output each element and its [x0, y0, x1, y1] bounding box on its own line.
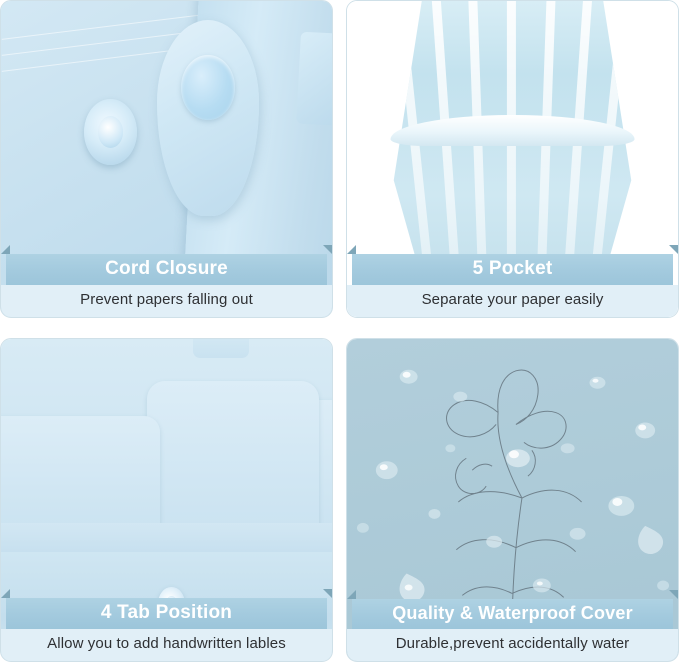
feature-subtitle: Separate your paper easily — [355, 291, 670, 308]
ribbon-fold-right-icon — [323, 245, 332, 254]
snap-button-icon — [84, 99, 137, 165]
subtitle-strip: Durable,prevent accidentally water — [347, 629, 678, 661]
feature-card-five-pocket: 5 Pocket Separate your paper easily — [346, 0, 679, 318]
feature-grid: Cord Closure Prevent papers falling out — [0, 0, 679, 662]
caption-block: Quality & Waterproof Cover Durable,preve… — [347, 599, 678, 661]
feature-subtitle: Prevent papers falling out — [9, 291, 324, 308]
ribbon-fold-left-icon — [1, 589, 10, 598]
feature-subtitle: Durable,prevent accidentally water — [355, 635, 670, 652]
file-tab-shape — [1, 416, 160, 525]
caption-block: 4 Tab Position Allow you to add handwrit… — [1, 598, 332, 661]
feature-title: 4 Tab Position — [6, 602, 327, 624]
feature-title: 5 Pocket — [352, 258, 673, 280]
feature-title: Quality & Waterproof Cover — [352, 603, 673, 624]
title-ribbon: Cord Closure — [6, 254, 327, 285]
subtitle-strip: Prevent papers falling out — [1, 285, 332, 317]
feature-title: Cord Closure — [6, 258, 327, 280]
ribbon-fold-right-icon — [669, 245, 678, 254]
feature-card-cord-closure: Cord Closure Prevent papers falling out — [0, 0, 333, 318]
feature-card-four-tab-position: 4 Tab Position Allow you to add handwrit… — [0, 338, 333, 662]
feature-card-waterproof-cover: Quality & Waterproof Cover Durable,preve… — [346, 338, 679, 662]
ribbon-fold-left-icon — [347, 590, 356, 599]
closure-tongue-shape — [193, 339, 249, 358]
subtitle-strip: Separate your paper easily — [347, 285, 678, 317]
ribbon-fold-left-icon — [1, 245, 10, 254]
ribbon-fold-right-icon — [323, 589, 332, 598]
feature-subtitle: Allow you to add handwritten lables — [9, 635, 324, 652]
title-ribbon: 5 Pocket — [352, 254, 673, 285]
folder-band-shape — [1, 523, 332, 552]
subtitle-strip: Allow you to add handwritten lables — [1, 629, 332, 661]
ribbon-fold-right-icon — [669, 590, 678, 599]
title-ribbon: Quality & Waterproof Cover — [352, 599, 673, 629]
caption-block: Cord Closure Prevent papers falling out — [1, 254, 332, 317]
title-ribbon: 4 Tab Position — [6, 598, 327, 629]
ribbon-fold-left-icon — [347, 245, 356, 254]
file-tab-shape — [147, 381, 319, 526]
floral-line-art-icon — [447, 370, 582, 637]
caption-block: 5 Pocket Separate your paper easily — [347, 254, 678, 317]
